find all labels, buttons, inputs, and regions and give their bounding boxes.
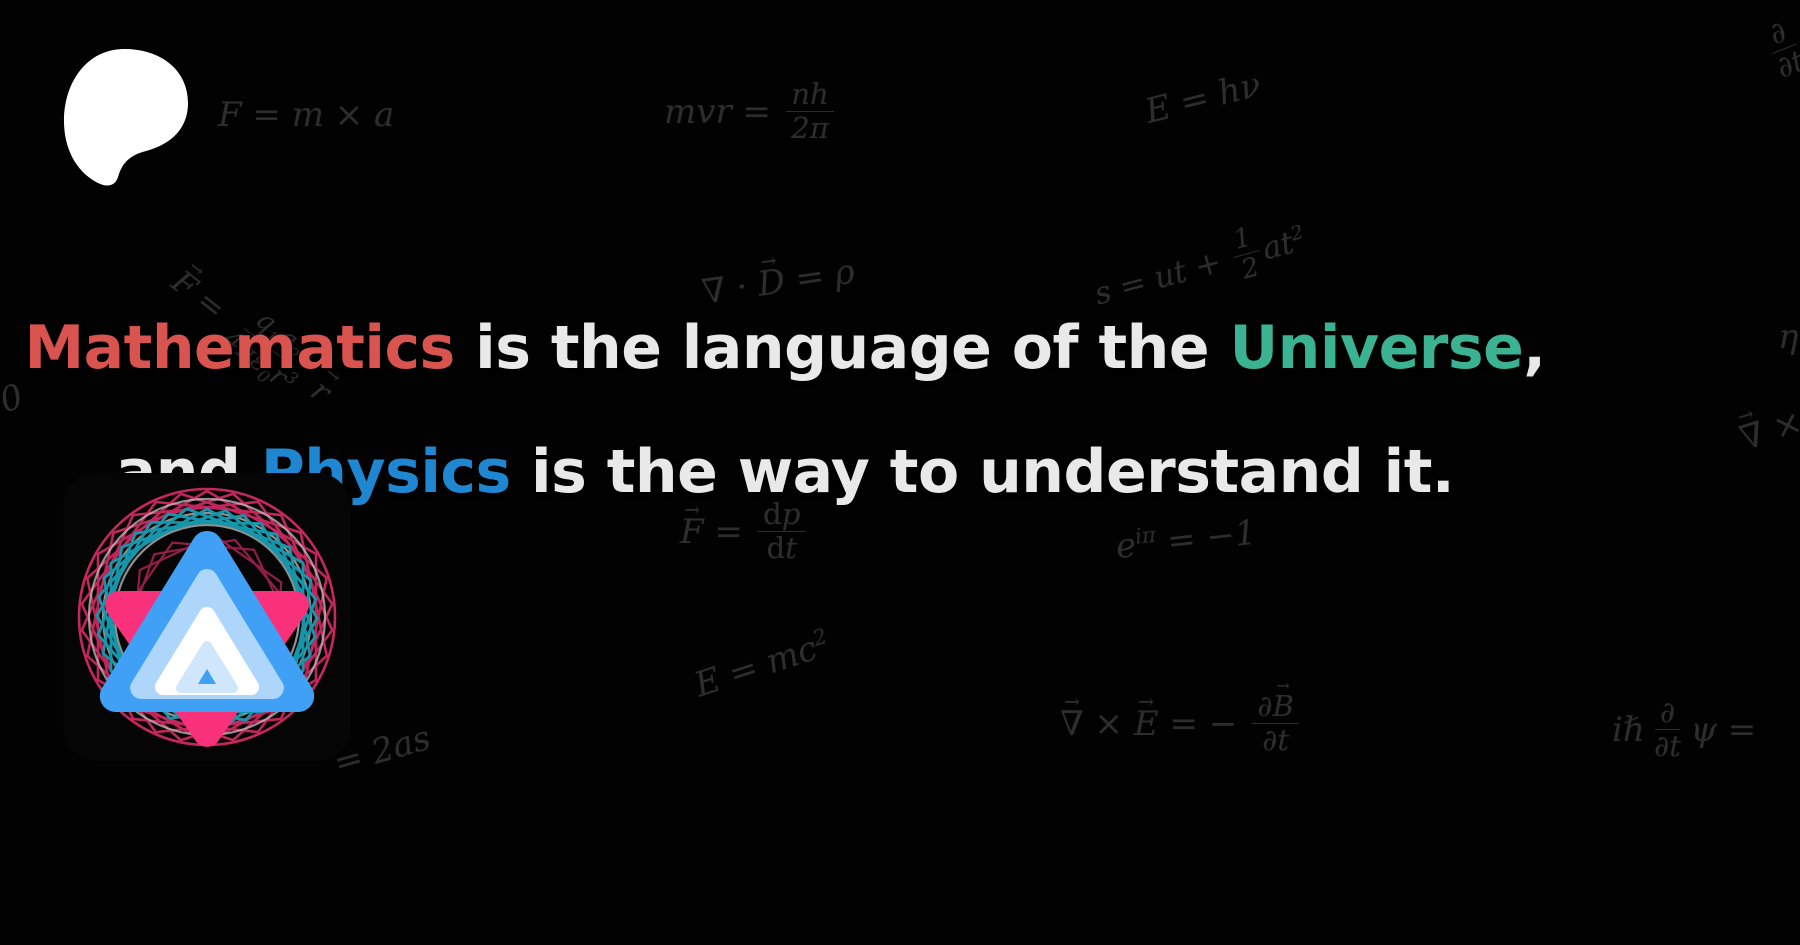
patreon-blob-icon	[62, 47, 188, 187]
quote-comma: ,	[1523, 313, 1545, 383]
formula-edge-eta-right: η	[1778, 320, 1798, 356]
formula-kinematics-displacement: s = ut + 12at2	[1088, 212, 1313, 325]
formula-edge-nabla-right: ∇ × r	[1736, 396, 1800, 458]
quote-keyword-universe: Universe	[1229, 313, 1523, 383]
quote-line-1: Mathematics is the language of the Unive…	[0, 286, 1570, 410]
formula-planck-energy: E = hν	[1142, 68, 1265, 131]
formula-newton-second-law: F = m × a	[218, 98, 394, 134]
patreon-logo[interactable]	[62, 47, 188, 187]
formula-bohr-quantization: mvr = nh2π	[664, 82, 838, 146]
avatar-artwork-icon	[63, 473, 351, 761]
quote-keyword-mathematics: Mathematics	[24, 313, 454, 383]
formula-edge-partial-right: ∂∂t	[1752, 13, 1800, 90]
channel-avatar[interactable]	[63, 473, 351, 761]
formula-faraday-law: ∇ × E = − ∂B∂t	[1060, 694, 1303, 758]
formula-gauss-d-field: ∇ · D = ρ	[700, 255, 857, 312]
formula-newton-momentum: F = dpdt	[680, 502, 810, 566]
formula-schrodinger-equation: iℏ∂∂tψ =	[1612, 700, 1756, 764]
formula-mass-energy: E = mc2	[690, 625, 835, 704]
quote-text-1: is the language of the	[455, 313, 1230, 383]
video-frame: F = m × a mvr = nh2π E = hν ∇ · D = ρ F …	[0, 0, 1800, 945]
quote-text-3: is the way to understand it.	[511, 437, 1455, 507]
formula-edge-zero-left: 0	[0, 379, 28, 420]
formula-euler-identity: eiπ = −1	[1114, 513, 1258, 566]
formula-coulomb-law: F = q1q24πε0r3 r	[154, 252, 347, 424]
